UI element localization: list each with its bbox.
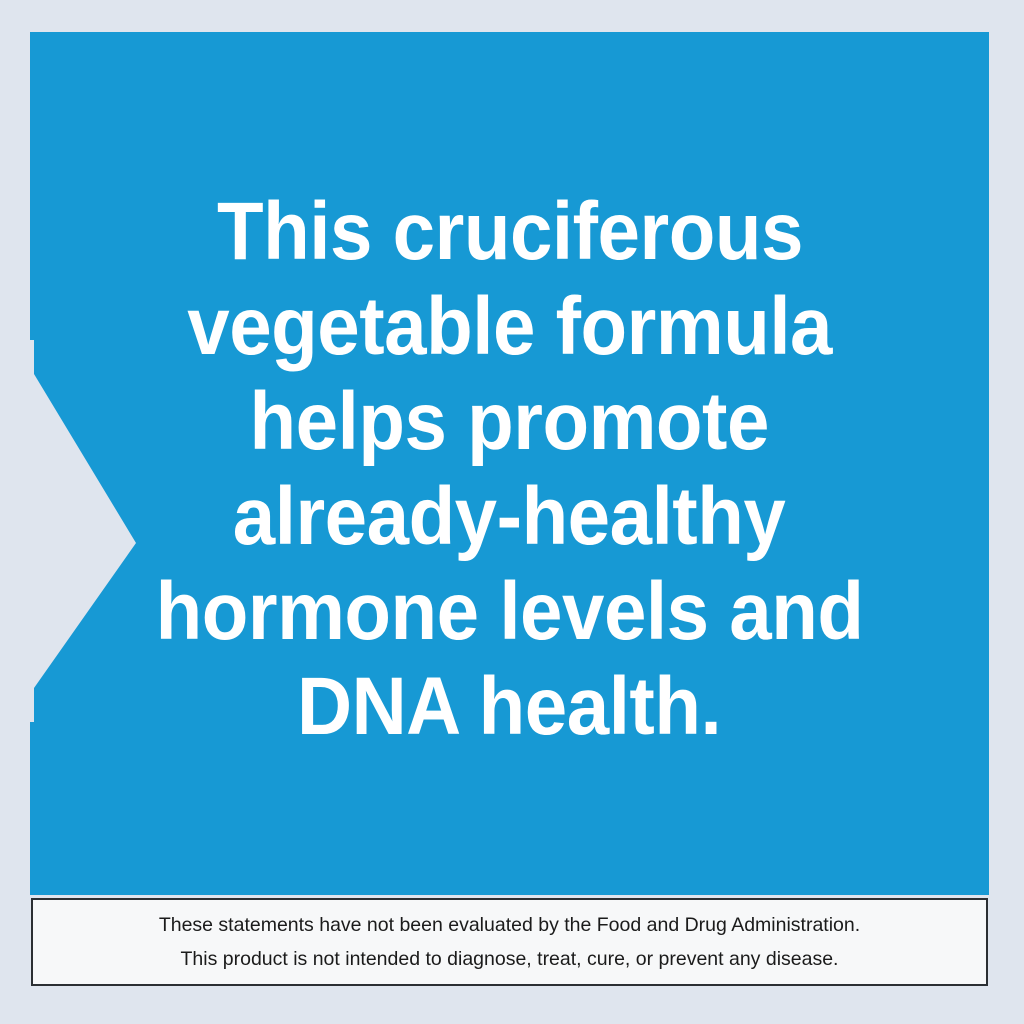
promo-graphic-canvas: This cruciferous vegetable formula helps…	[0, 0, 1024, 1024]
disclaimer-line-2: This product is not intended to diagnose…	[181, 942, 839, 976]
headline-line-2: vegetable formula	[187, 279, 832, 374]
headline-line-6: DNA health.	[297, 659, 721, 754]
fda-disclaimer-box: These statements have not been evaluated…	[31, 898, 988, 986]
headline-line-4: already-healthy	[233, 469, 786, 564]
headline-panel: This cruciferous vegetable formula helps…	[30, 32, 989, 895]
headline-line-5: hormone levels and	[156, 564, 864, 659]
disclaimer-line-1: These statements have not been evaluated…	[159, 908, 860, 942]
headline-text-block: This cruciferous vegetable formula helps…	[30, 32, 989, 895]
headline-line-1: This cruciferous	[217, 184, 803, 279]
headline-line-3: helps promote	[250, 374, 769, 469]
